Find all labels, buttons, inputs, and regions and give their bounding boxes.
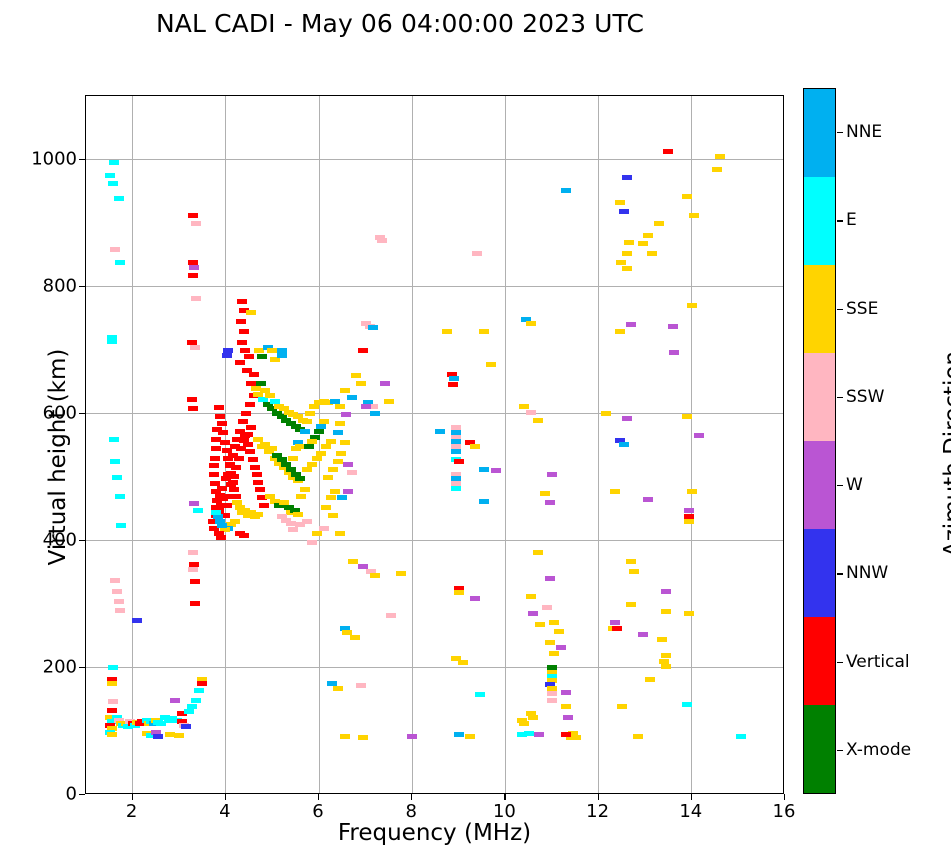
echo-point: [472, 251, 482, 256]
echo-point: [617, 704, 627, 709]
echo-point: [114, 196, 124, 201]
echo-point: [112, 475, 122, 480]
echo-point: [601, 411, 611, 416]
x-tick-label: 2: [126, 801, 137, 822]
echo-point: [528, 715, 538, 720]
echo-point: [188, 406, 198, 411]
echo-point: [356, 683, 366, 688]
echo-point: [643, 233, 653, 238]
echo-point: [638, 632, 648, 637]
echo-point: [187, 704, 197, 709]
echo-point: [188, 213, 198, 218]
x-tick-label: 6: [312, 801, 323, 822]
echo-point: [380, 381, 390, 386]
echo-point: [554, 629, 564, 634]
echo-point: [222, 503, 232, 508]
echo-point: [386, 613, 396, 618]
echo-point: [170, 698, 180, 703]
echo-point: [277, 353, 287, 358]
echo-point: [238, 419, 248, 424]
echo-point: [545, 500, 555, 505]
y-tick: [79, 286, 85, 287]
echo-point: [534, 732, 544, 737]
echo-point: [267, 446, 277, 451]
echo-point: [684, 508, 694, 513]
echo-point: [610, 489, 620, 494]
echo-point: [356, 381, 366, 386]
echo-point: [368, 325, 378, 330]
echo-point: [661, 653, 671, 658]
colorbar-label-ssw: SSW: [846, 387, 884, 407]
echo-point: [479, 329, 489, 334]
echo-point: [619, 209, 629, 214]
echo-point: [668, 324, 678, 329]
echo-point: [245, 449, 255, 454]
echo-point: [358, 735, 368, 740]
echo-point: [302, 467, 312, 472]
echo-point: [108, 181, 118, 186]
echo-point: [633, 734, 643, 739]
echo-point: [361, 404, 371, 409]
echo-point: [622, 416, 632, 421]
echo-point: [234, 456, 244, 461]
echo-point: [326, 439, 336, 444]
gridline-horizontal: [86, 286, 783, 287]
echo-point: [643, 497, 653, 502]
echo-point: [622, 251, 632, 256]
echo-point: [654, 221, 664, 226]
echo-point: [661, 609, 671, 614]
echo-point: [626, 322, 636, 327]
echo-point: [454, 732, 464, 737]
echo-point: [335, 404, 345, 409]
echo-point: [105, 173, 115, 178]
echo-point: [226, 471, 236, 476]
echo-point: [316, 451, 326, 456]
echo-point: [316, 424, 326, 429]
echo-point: [647, 251, 657, 256]
echo-point: [241, 411, 251, 416]
echo-point: [307, 540, 317, 545]
echo-point: [191, 698, 201, 703]
gridline-vertical: [319, 96, 320, 793]
echo-point: [211, 437, 221, 442]
colorbar-tick: [837, 132, 843, 133]
echo-point: [107, 732, 117, 737]
gridline-horizontal: [86, 159, 783, 160]
colorbar-tick: [837, 397, 843, 398]
echo-point: [174, 733, 184, 738]
echo-point: [110, 247, 120, 252]
echo-point: [256, 381, 266, 386]
x-tick: [598, 794, 599, 800]
echo-point: [326, 495, 336, 500]
colorbar-label-vertical: Vertical: [846, 652, 910, 672]
x-tick-label: 12: [586, 801, 609, 822]
echo-point: [193, 508, 203, 513]
echo-point: [215, 519, 225, 524]
echo-point: [250, 465, 260, 470]
gridline-vertical: [505, 96, 506, 793]
echo-point: [305, 411, 315, 416]
echo-point: [491, 468, 501, 473]
echo-point: [231, 494, 241, 499]
echo-point: [190, 579, 200, 584]
echo-point: [248, 457, 258, 462]
echo-point: [458, 660, 468, 665]
echo-point: [321, 505, 331, 510]
echo-point: [340, 388, 350, 393]
echo-point: [115, 494, 125, 499]
echo-point: [350, 635, 360, 640]
echo-point: [370, 411, 380, 416]
echo-point: [236, 319, 246, 324]
echo-point: [244, 354, 254, 359]
echo-point: [533, 550, 543, 555]
echo-point: [561, 704, 571, 709]
y-tick: [79, 413, 85, 414]
echo-point: [533, 418, 543, 423]
echo-point: [107, 708, 117, 713]
x-tick: [225, 794, 226, 800]
echo-point: [377, 238, 387, 243]
echo-point: [216, 535, 226, 540]
echo-point: [259, 503, 269, 508]
echo-point: [257, 354, 267, 359]
echo-point: [435, 429, 445, 434]
echo-point: [638, 241, 648, 246]
colorbar-tick: [837, 662, 843, 663]
echo-point: [626, 559, 636, 564]
y-tick: [79, 667, 85, 668]
echo-point: [542, 605, 552, 610]
gridline-vertical: [412, 96, 413, 793]
echo-point: [519, 404, 529, 409]
echo-point: [252, 472, 262, 477]
gridline-horizontal: [86, 540, 783, 541]
echo-point: [343, 462, 353, 467]
echo-point: [222, 448, 232, 453]
echo-point: [314, 429, 324, 434]
echo-point: [682, 414, 692, 419]
echo-point: [190, 601, 200, 606]
echo-point: [110, 578, 120, 583]
echo-point: [211, 510, 221, 515]
gridline-horizontal: [86, 667, 783, 668]
echo-point: [288, 527, 298, 532]
echo-point: [245, 402, 255, 407]
echo-point: [211, 446, 221, 451]
echo-point: [302, 519, 312, 524]
echo-point: [253, 480, 263, 485]
echo-point: [615, 200, 625, 205]
echo-point: [328, 467, 338, 472]
colorbar-segment-nne: [804, 89, 835, 177]
echo-point: [475, 692, 485, 697]
echo-point: [184, 709, 194, 714]
echo-point: [237, 299, 247, 304]
echo-point: [300, 429, 310, 434]
echo-point: [526, 410, 536, 415]
echo-point: [661, 664, 671, 669]
y-tick-label: 1000: [31, 148, 77, 169]
echo-point: [333, 430, 343, 435]
echo-point: [335, 421, 345, 426]
echo-point: [451, 486, 461, 491]
echo-point: [333, 459, 343, 464]
echo-point: [300, 487, 310, 492]
echo-point: [229, 487, 239, 492]
colorbar-segment-x-mode: [804, 705, 835, 793]
echo-point: [112, 589, 122, 594]
y-tick-label: 200: [43, 656, 77, 677]
echo-point: [115, 260, 125, 265]
colorbar-label-e: E: [846, 210, 857, 230]
echo-point: [213, 514, 223, 519]
colorbar-segment-nnw: [804, 529, 835, 617]
echo-point: [210, 481, 220, 486]
echo-point: [682, 194, 692, 199]
echo-point: [253, 512, 263, 517]
gridline-vertical: [598, 96, 599, 793]
echo-point: [107, 681, 117, 686]
y-tick: [79, 794, 85, 795]
echo-point: [222, 353, 232, 358]
echo-point: [486, 362, 496, 367]
echo-point: [189, 501, 199, 506]
echo-point: [323, 475, 333, 480]
echo-point: [347, 470, 357, 475]
echo-point: [330, 489, 340, 494]
y-tick-label: 800: [43, 275, 77, 296]
echo-point: [328, 513, 338, 518]
colorbar-tick: [837, 573, 843, 574]
echo-point: [661, 589, 671, 594]
echo-point: [615, 329, 625, 334]
y-tick: [79, 159, 85, 160]
colorbar-label-x-mode: X-mode: [846, 740, 911, 760]
echo-point: [684, 611, 694, 616]
colorbar-segment-ssw: [804, 353, 835, 441]
echo-point: [610, 620, 620, 625]
echo-point: [682, 702, 692, 707]
echo-point: [669, 350, 679, 355]
echo-point: [547, 472, 557, 477]
echo-point: [545, 640, 555, 645]
x-tick-label: 8: [405, 801, 416, 822]
echo-point: [687, 303, 697, 308]
x-tick: [411, 794, 412, 800]
echo-point: [337, 495, 347, 500]
echo-point: [211, 489, 221, 494]
echo-point: [296, 494, 306, 499]
colorbar-tick: [837, 485, 843, 486]
echo-point: [470, 444, 480, 449]
echo-point: [188, 550, 198, 555]
echo-point: [448, 382, 458, 387]
echo-point: [319, 419, 329, 424]
echo-point: [188, 567, 198, 572]
echo-point: [616, 260, 626, 265]
echo-point: [712, 167, 722, 172]
echo-point: [209, 463, 219, 468]
echo-point: [549, 651, 559, 656]
echo-point: [358, 348, 368, 353]
echo-point: [622, 266, 632, 271]
colorbar-segment-sse: [804, 265, 835, 353]
echo-point: [540, 491, 550, 496]
echo-point: [114, 599, 124, 604]
echo-point: [307, 462, 317, 467]
ionogram-figure: NAL CADI - May 06 04:00:00 2023 UTC 2468…: [0, 0, 951, 856]
echo-point: [321, 444, 331, 449]
echo-point: [228, 480, 238, 485]
figure-title: NAL CADI - May 06 04:00:00 2023 UTC: [0, 9, 800, 38]
echo-point: [243, 442, 253, 447]
echo-point: [341, 412, 351, 417]
echo-point: [479, 467, 489, 472]
echo-point: [629, 569, 639, 574]
echo-point: [451, 449, 461, 454]
echo-point: [547, 698, 557, 703]
echo-point: [396, 571, 406, 576]
echo-point: [657, 637, 667, 642]
x-tick-label: 4: [219, 801, 230, 822]
echo-point: [187, 397, 197, 402]
echo-point: [239, 329, 249, 334]
echo-point: [109, 437, 119, 442]
echo-point: [333, 686, 343, 691]
echo-point: [736, 734, 746, 739]
y-tick-label: 0: [66, 784, 77, 805]
colorbar-segment-vertical: [804, 617, 835, 705]
echo-point: [524, 731, 534, 736]
echo-point: [288, 456, 298, 461]
colorbar-title: Azimuth Direction: [940, 294, 951, 614]
echo-point: [237, 340, 247, 345]
gridline-vertical: [132, 96, 133, 793]
echo-point: [470, 596, 480, 601]
echo-point: [684, 519, 694, 524]
echo-point: [302, 419, 312, 424]
echo-point: [312, 456, 322, 461]
echo-point: [549, 620, 559, 625]
echo-point: [694, 433, 704, 438]
echo-point: [370, 573, 380, 578]
echo-point: [619, 442, 629, 447]
plot-area: [85, 95, 784, 794]
x-tick-label: 16: [773, 801, 796, 822]
echo-point: [561, 732, 571, 737]
echo-point: [235, 360, 245, 365]
echo-point: [465, 734, 475, 739]
colorbar-tick: [837, 309, 843, 310]
echo-point: [347, 395, 357, 400]
echo-point: [115, 608, 125, 613]
echo-point: [197, 681, 207, 686]
echo-point: [535, 622, 545, 627]
echo-point: [348, 559, 358, 564]
echo-point: [209, 472, 219, 477]
echo-point: [240, 348, 250, 353]
colorbar-tick: [837, 220, 843, 221]
gridline-vertical: [691, 96, 692, 793]
x-tick: [504, 794, 505, 800]
echo-point: [340, 440, 350, 445]
echo-point: [624, 240, 634, 245]
echo-point: [547, 691, 557, 696]
echo-point: [454, 590, 464, 595]
echo-point: [526, 594, 536, 599]
echo-point: [645, 677, 655, 682]
echo-point: [689, 213, 699, 218]
echo-point: [212, 427, 222, 432]
echo-point: [571, 735, 581, 740]
colorbar-label-nnw: NNW: [846, 563, 888, 583]
echo-point: [255, 487, 265, 492]
echo-point: [626, 602, 636, 607]
echo-point: [190, 345, 200, 350]
echo-point: [407, 734, 417, 739]
x-tick: [691, 794, 692, 800]
echo-point: [108, 699, 118, 704]
colorbar-label-nne: NNE: [846, 122, 882, 142]
echo-point: [295, 476, 305, 481]
echo-point: [107, 339, 117, 344]
colorbar-tick: [837, 750, 843, 751]
echo-point: [563, 715, 573, 720]
echo-point: [293, 512, 303, 517]
echo-point: [528, 611, 538, 616]
echo-point: [335, 531, 345, 536]
echo-point: [351, 373, 361, 378]
echo-point: [454, 459, 464, 464]
x-tick: [132, 794, 133, 800]
echo-point: [153, 734, 163, 739]
echo-point: [449, 376, 459, 381]
echo-point: [240, 433, 250, 438]
echo-point: [108, 665, 118, 670]
colorbar-label-sse: SSE: [846, 299, 878, 319]
echo-point: [561, 188, 571, 193]
echo-point: [109, 160, 119, 165]
echo-point: [215, 414, 225, 419]
echo-point: [519, 721, 529, 726]
echo-point: [479, 499, 489, 504]
echo-point: [556, 645, 566, 650]
x-tick: [318, 794, 319, 800]
y-axis-label: Virtual height (km): [45, 307, 71, 607]
x-tick-label: 14: [679, 801, 702, 822]
echo-point: [217, 421, 227, 426]
echo-point: [304, 444, 314, 449]
y-tick: [79, 540, 85, 541]
echo-point: [612, 626, 622, 631]
echo-point: [246, 425, 256, 430]
echo-point: [246, 310, 256, 315]
colorbar: [803, 88, 836, 794]
echo-point: [223, 456, 233, 461]
echo-point: [312, 531, 322, 536]
echo-point: [343, 489, 353, 494]
echo-point: [561, 690, 571, 695]
echo-point: [210, 456, 220, 461]
echo-point: [249, 372, 259, 377]
echo-point: [622, 175, 632, 180]
echo-point: [188, 273, 198, 278]
colorbar-label-w: W: [846, 475, 863, 495]
echo-point: [191, 296, 201, 301]
